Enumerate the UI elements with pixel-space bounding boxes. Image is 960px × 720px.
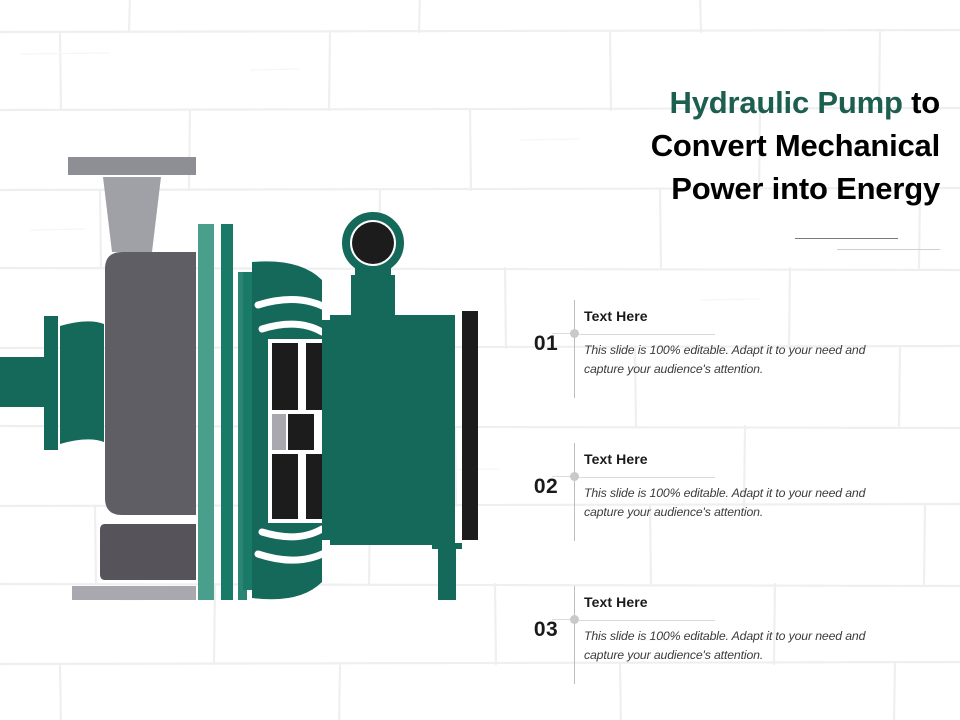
block-heading: Text Here: [584, 594, 648, 610]
block-body-text: This slide is 100% editable. Adapt it to…: [584, 484, 906, 521]
block-heading-rule: [579, 334, 715, 335]
inlet-flange: [44, 316, 58, 450]
block-heading-rule: [579, 620, 715, 621]
discharge-body-edge: [322, 320, 336, 540]
title-accent-text: Hydraulic Pump: [670, 85, 903, 120]
block-node-stub: [552, 333, 571, 334]
block-number: 02: [528, 475, 564, 499]
content-block[interactable]: 02 Text Here This slide is 100% editable…: [528, 439, 928, 559]
block-heading: Text Here: [584, 451, 648, 467]
gauge-neck: [351, 275, 395, 321]
support-leg-cap: [432, 543, 462, 549]
block-heading-rule: [579, 477, 715, 478]
block-vertical-line: [574, 300, 575, 398]
motor-body: [105, 252, 196, 515]
title-line-3: Power into Energy: [540, 168, 940, 211]
content-block[interactable]: 03 Text Here This slide is 100% editable…: [528, 582, 928, 702]
title-rule-dark: [795, 238, 898, 239]
block-node-dot: [570, 472, 579, 481]
motor-funnel: [103, 177, 161, 252]
motor-lower-block: [100, 524, 196, 580]
block-node-dot: [570, 329, 579, 338]
block-body-text: This slide is 100% editable. Adapt it to…: [584, 627, 906, 664]
outlet-flange: [462, 311, 478, 540]
support-leg: [438, 548, 456, 600]
block-node-stub: [552, 619, 571, 620]
slide-canvas: Hydraulic Pump to Convert Mechanical Pow…: [0, 0, 960, 720]
title-rule-light: [837, 249, 940, 250]
title-line-1-rest: to: [903, 85, 940, 120]
cooling-fin-1: [198, 224, 214, 600]
base-plate-upper: [72, 586, 196, 600]
page-title: Hydraulic Pump to Convert Mechanical Pow…: [540, 82, 940, 210]
title-line-1: Hydraulic Pump to: [540, 82, 940, 125]
inlet-cone: [60, 321, 104, 444]
hydraulic-pump-illustration: [0, 120, 520, 600]
block-vertical-line: [574, 443, 575, 541]
content-block[interactable]: 01 Text Here This slide is 100% editable…: [528, 296, 928, 416]
block-number: 03: [528, 618, 564, 642]
title-line-2: Convert Mechanical: [540, 125, 940, 168]
block-node-stub: [552, 476, 571, 477]
discharge-body: [330, 315, 455, 545]
pressure-gauge-knob: [352, 222, 394, 264]
block-heading: Text Here: [584, 308, 648, 324]
block-body-text: This slide is 100% editable. Adapt it to…: [584, 341, 906, 378]
block-node-dot: [570, 615, 579, 624]
cooling-fin-2: [221, 224, 233, 600]
block-vertical-line: [574, 586, 575, 684]
block-number: 01: [528, 332, 564, 356]
motor-top-plate: [68, 157, 196, 175]
